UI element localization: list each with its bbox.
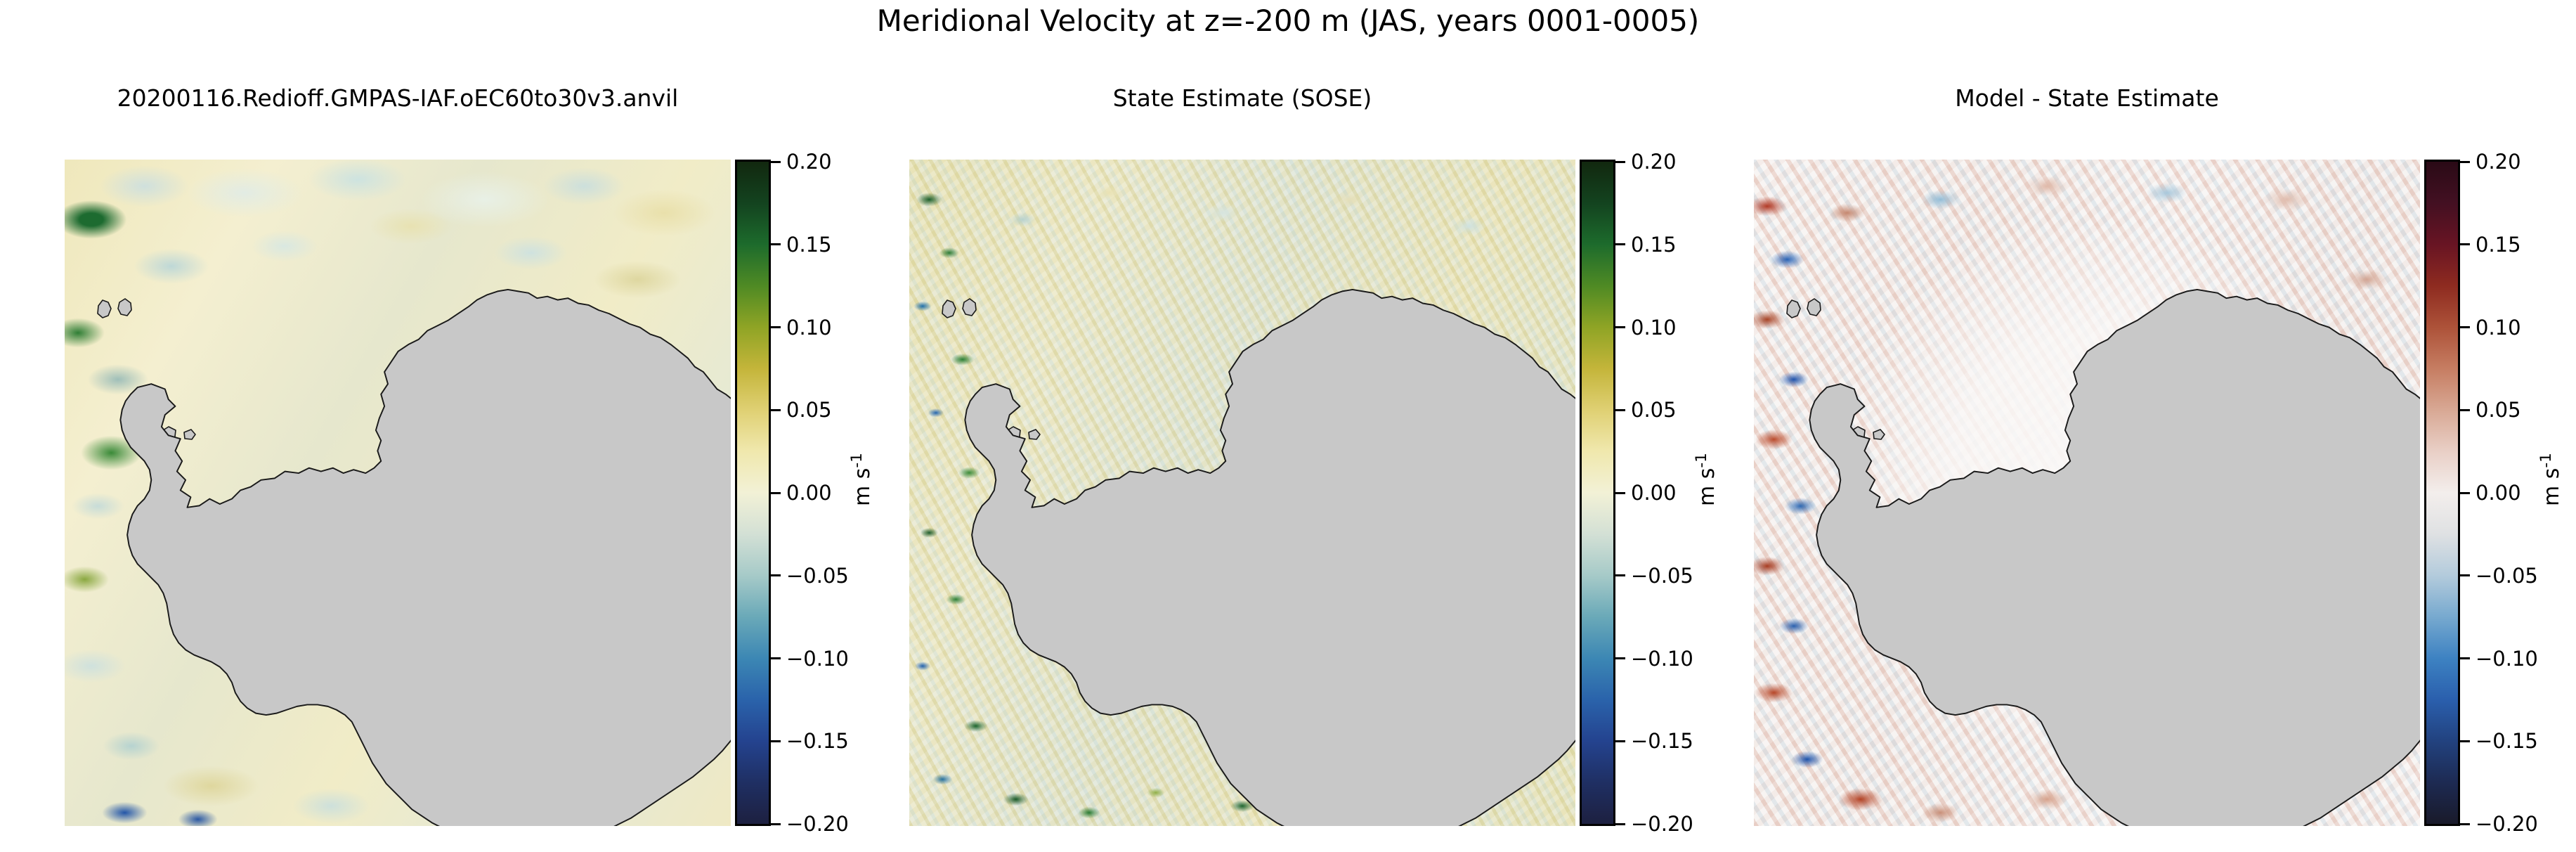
panel-title-bias: Model - State Estimate [1754,84,2420,112]
colorbar-tick-label: 0.05 [786,397,832,422]
colorbar-unit-exp-model: -1 [848,453,866,468]
colorbar-tick-mark [771,657,781,659]
colorbar-tick-mark [1615,326,1625,328]
colorbar-tick-mark [771,409,781,411]
colorbar-tick-label: −0.15 [786,728,849,754]
colorbar-tick-label: 0.05 [2476,397,2521,422]
figure-suptitle: Meridional Velocity at z=-200 m (JAS, ye… [0,3,2576,39]
colorbar-unit-sose: m s-1 [1693,453,1719,506]
field-raster-model [65,160,731,826]
colorbar-tick-mark [771,326,781,328]
colorbar-unit-text-bias: m s [2539,468,2564,506]
colorbar-tick-label: −0.20 [1631,811,1693,837]
colorbar-tick-mark [2460,409,2470,411]
colorbar-tick-mark [2460,574,2470,576]
colorbar-tick-label: −0.15 [1631,728,1693,754]
colorbar-tick-label: 0.05 [1631,397,1677,422]
colorbar-tick-mark [2460,823,2470,825]
colorbar-tick-mark [2460,243,2470,245]
field-raster-bias [1754,160,2420,826]
colorbar-tick-mark [771,161,781,163]
colorbar-unit-text-model: m s [850,468,875,506]
panel-title-model: 20200116.Redioff.GMPAS-IAF.oEC60to30v3.a… [65,84,731,112]
map-sose[interactable] [909,160,1575,826]
colorbar-tick-label: −0.05 [786,563,849,588]
colorbar-unit-text-sose: m s [1695,468,1719,506]
colorbar-ticks-sose: 0.200.150.100.050.00−0.05−0.10−0.15−0.20 [1615,160,1749,826]
colorbar-tick-label: −0.05 [2476,563,2538,588]
colorbar-tick-mark [1615,409,1625,411]
figure-canvas: Meridional Velocity at z=-200 m (JAS, ye… [0,0,2576,852]
colorbar-tick-label: −0.05 [1631,563,1693,588]
panel-title-sose: State Estimate (SOSE) [909,84,1575,112]
colorbar-tick-label: 0.00 [2476,480,2521,505]
colorbar-tick-mark [1615,657,1625,659]
colorbar-tick-label: 0.10 [2476,315,2521,340]
colorbar-tick-label: 0.00 [1631,480,1677,505]
colorbar-tick-mark [2460,161,2470,163]
colorbar-tick-mark [771,243,781,245]
colorbar-tick-label: −0.15 [2476,728,2538,754]
colorbar-tick-mark [2460,657,2470,659]
colorbar-tick-mark [771,740,781,742]
map-model[interactable] [65,160,731,826]
colorbar-tick-label: 0.20 [2476,149,2521,174]
colorbar-tick-label: −0.10 [1631,646,1693,671]
colorbar-tick-mark [771,492,781,494]
colorbar-tick-mark [1615,492,1625,494]
colorbar-tick-label: 0.15 [1631,232,1677,257]
colorbar-tick-label: −0.20 [786,811,849,837]
colorbar-tick-mark [1615,243,1625,245]
colorbar-tick-mark [2460,492,2470,494]
colorbar-tick-label: 0.15 [786,232,832,257]
colorbar-model [735,160,771,826]
colorbar-tick-mark [1615,823,1625,825]
colorbar-tick-mark [2460,326,2470,328]
colorbar-unit-exp-sose: -1 [1693,453,1710,468]
colorbar-tick-mark [1615,574,1625,576]
colorbar-tick-label: −0.20 [2476,811,2538,837]
colorbar-tick-label: 0.20 [1631,149,1677,174]
colorbar-tick-label: 0.10 [1631,315,1677,340]
colorbar-tick-label: 0.20 [786,149,832,174]
colorbar-unit-bias: m s-1 [2537,453,2564,506]
map-bias[interactable] [1754,160,2420,826]
colorbar-tick-label: −0.10 [2476,646,2538,671]
colorbar-tick-label: 0.15 [2476,232,2521,257]
colorbar-tick-mark [771,823,781,825]
colorbar-tick-mark [2460,740,2470,742]
field-raster-sose [909,160,1575,826]
colorbar-ticks-model: 0.200.150.100.050.00−0.05−0.10−0.15−0.20 [771,160,904,826]
colorbar-tick-label: 0.10 [786,315,832,340]
field-interior-wash-bias [1847,226,2341,759]
colorbar-tick-mark [771,574,781,576]
colorbar-tick-mark [1615,161,1625,163]
colorbar-tick-mark [1615,740,1625,742]
colorbar-bias [2424,160,2460,826]
colorbar-unit-exp-bias: -1 [2537,453,2555,468]
colorbar-tick-label: −0.10 [786,646,849,671]
colorbar-tick-label: 0.00 [786,480,832,505]
colorbar-sose [1580,160,1615,826]
colorbar-unit-model: m s-1 [848,453,875,506]
